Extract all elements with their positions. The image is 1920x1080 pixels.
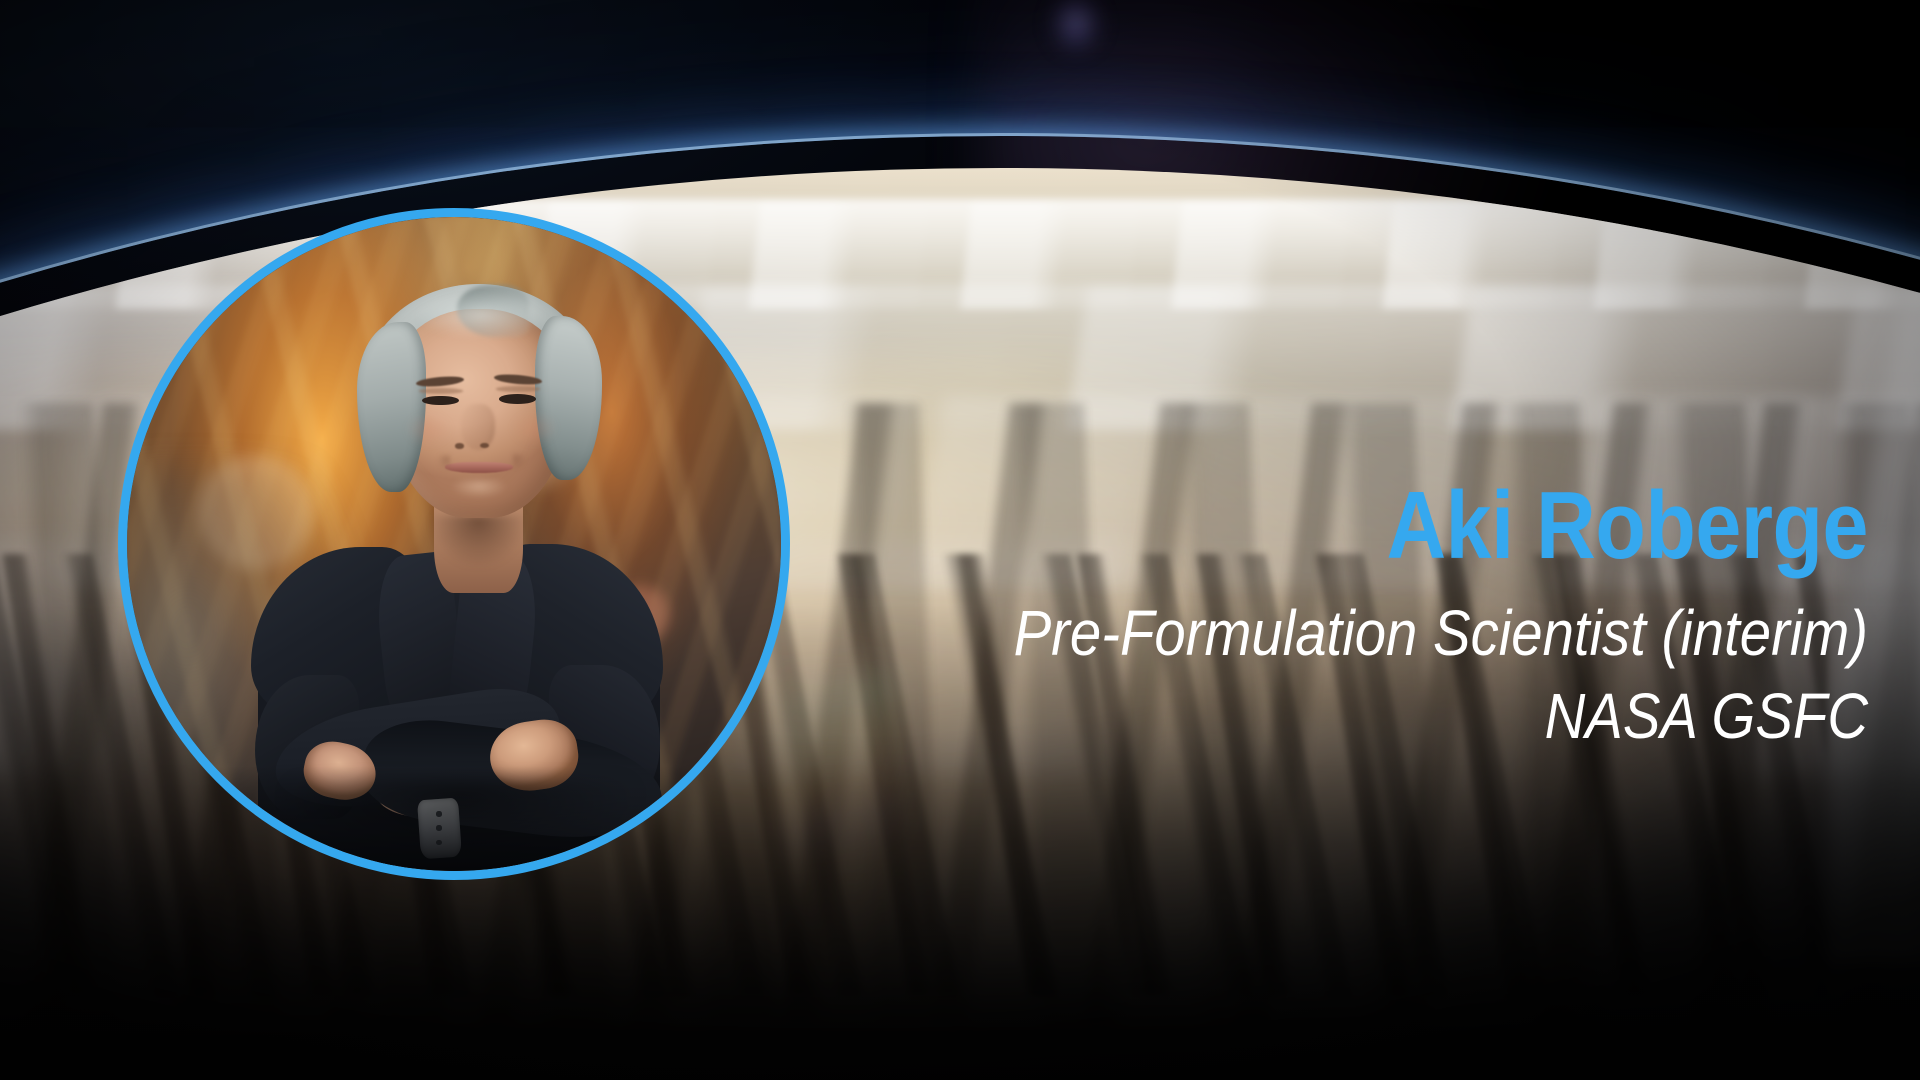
neck-shadow	[431, 515, 526, 567]
nostril-right	[480, 443, 489, 448]
speaker-organization: NASA GSFC	[900, 683, 1868, 750]
speaker-text-block: Aki Roberge Pre-Formulation Scientist (i…	[768, 478, 1868, 750]
nostril-left	[455, 443, 464, 448]
chin-highlight	[451, 479, 507, 499]
speaker-name: Aki Roberge	[922, 478, 1868, 574]
cheek-left	[406, 413, 452, 446]
hair-strand-right	[535, 316, 602, 480]
eyelid-left	[419, 388, 463, 394]
speaker-role: Pre-Formulation Scientist (interim)	[900, 600, 1868, 667]
smile-line-right	[513, 454, 526, 470]
mouth	[445, 462, 513, 473]
portrait-clip	[127, 217, 781, 871]
hair-highlight	[415, 292, 546, 338]
cheek-right	[512, 412, 558, 445]
speaker-title-card: Aki Roberge Pre-Formulation Scientist (i…	[0, 0, 1920, 1080]
eye-right	[499, 394, 536, 404]
eye-left	[422, 396, 459, 406]
smile-line-left	[437, 455, 450, 471]
portrait-bottom-fade	[127, 766, 781, 871]
hair-strand-left	[357, 322, 426, 492]
nose	[461, 404, 495, 450]
speaker-portrait-avatar	[118, 208, 790, 880]
